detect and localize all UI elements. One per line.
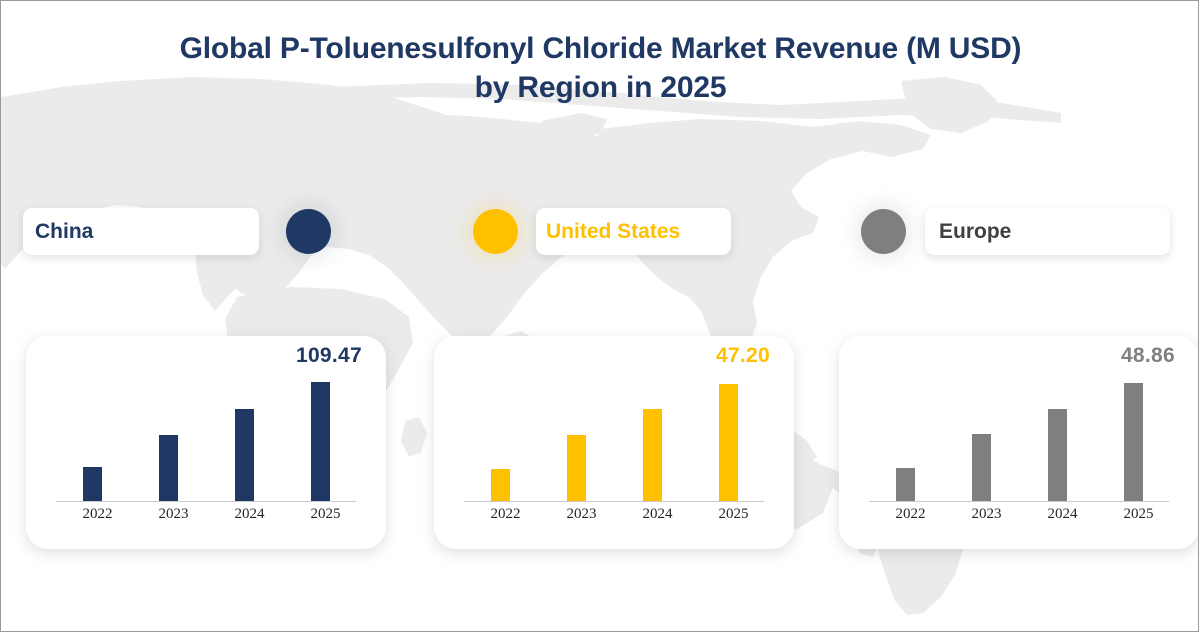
- plot-area-europe: [867, 380, 1171, 502]
- tick-united-states-2023: 2023: [567, 506, 586, 523]
- tick-europe-2022: 2022: [896, 506, 915, 523]
- bar-united-states-2024[interactable]: [643, 409, 662, 502]
- bar-group-united-states: [462, 380, 766, 502]
- legend-item-united-states[interactable]: United States: [536, 208, 731, 255]
- tick-united-states-2025: 2025: [719, 506, 738, 523]
- infographic-canvas: Global P-Toluenesulfonyl Chloride Market…: [0, 0, 1199, 632]
- page-title: Global P-Toluenesulfonyl Chloride Market…: [1, 29, 1199, 107]
- bar-united-states-2022[interactable]: [491, 469, 510, 502]
- legend-label-china: China: [35, 220, 93, 244]
- chart-panel-china: 109.47 2022 2023 2024 2025: [26, 336, 386, 549]
- tick-china-2022: 2022: [83, 506, 102, 523]
- chart-panel-europe: 48.86 2022 2023 2024 2025: [839, 336, 1199, 549]
- tick-europe-2024: 2024: [1048, 506, 1067, 523]
- legend-item-china[interactable]: China: [23, 208, 259, 255]
- bar-china-2024[interactable]: [235, 409, 254, 502]
- tick-united-states-2022: 2022: [491, 506, 510, 523]
- bar-united-states-2023[interactable]: [567, 435, 586, 502]
- bar-europe-2023[interactable]: [972, 434, 991, 502]
- plot-area-united-states: [462, 380, 766, 502]
- bar-china-2023[interactable]: [159, 435, 178, 502]
- x-axis-ticks-europe: 2022 2023 2024 2025: [867, 506, 1171, 523]
- tick-united-states-2024: 2024: [643, 506, 662, 523]
- tick-china-2024: 2024: [235, 506, 254, 523]
- axis-line-europe: [869, 501, 1169, 502]
- bar-group-china: [54, 380, 358, 502]
- legend-dot-united-states-icon: [473, 209, 518, 254]
- value-label-china: 109.47: [296, 344, 362, 368]
- bar-china-2022[interactable]: [83, 467, 102, 502]
- tick-europe-2023: 2023: [972, 506, 991, 523]
- tick-europe-2025: 2025: [1124, 506, 1143, 523]
- bar-europe-2022[interactable]: [896, 468, 915, 502]
- bar-group-europe: [867, 380, 1171, 502]
- bar-europe-2024[interactable]: [1048, 409, 1067, 502]
- title-line-1: Global P-Toluenesulfonyl Chloride Market…: [1, 29, 1199, 68]
- legend-label-europe: Europe: [939, 220, 1011, 244]
- x-axis-ticks-china: 2022 2023 2024 2025: [54, 506, 358, 523]
- legend-dot-europe-icon: [861, 209, 906, 254]
- legend-item-europe[interactable]: Europe: [925, 208, 1170, 255]
- bar-europe-2025[interactable]: [1124, 383, 1143, 502]
- bar-china-2025[interactable]: [311, 382, 330, 502]
- bar-united-states-2025[interactable]: [719, 384, 738, 502]
- axis-line-united-states: [464, 501, 764, 502]
- x-axis-ticks-united-states: 2022 2023 2024 2025: [462, 506, 766, 523]
- legend-label-united-states: United States: [546, 220, 680, 244]
- chart-panel-united-states: 47.20 2022 2023 2024 2025: [434, 336, 794, 549]
- value-label-united-states: 47.20: [716, 344, 770, 368]
- legend-dot-china-icon: [286, 209, 331, 254]
- tick-china-2023: 2023: [159, 506, 178, 523]
- plot-area-china: [54, 380, 358, 502]
- value-label-europe: 48.86: [1121, 344, 1175, 368]
- title-line-2: by Region in 2025: [1, 68, 1199, 107]
- axis-line-china: [56, 501, 356, 502]
- tick-china-2025: 2025: [311, 506, 330, 523]
